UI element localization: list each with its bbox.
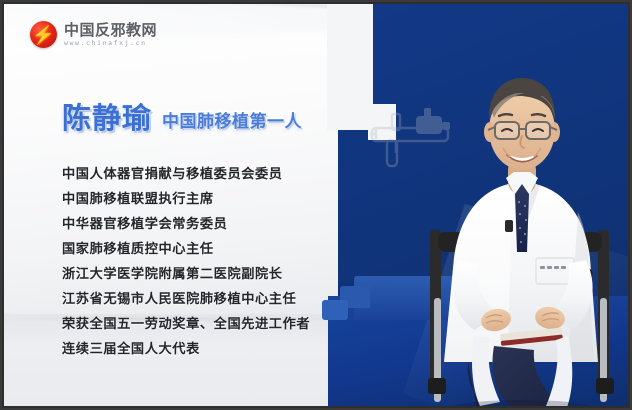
site-name: 中国反邪教网 [64,23,157,38]
subject-photo [408,62,628,406]
credential-line: 江苏省无锡市人民医院肺移植中心主任 [62,287,310,312]
video-stage: ⚡ 中国反邪教网 www.chinafxj.cn 陈静瑜 中国肺移植第一人 中国… [4,4,628,406]
person-tagline: 中国肺移植第一人 [162,114,302,133]
flame-bolt-icon: ⚡ [30,21,57,48]
video-frame: ⚡ 中国反邪教网 www.chinafxj.cn 陈静瑜 中国肺移植第一人 中国… [0,0,632,410]
credential-line: 荣获全国五一劳动奖章、全国先进工作者 [62,312,310,337]
credential-line: 连续三届全国人大代表 [62,337,310,362]
credential-line: 国家肺移植质控中心主任 [62,237,310,262]
site-watermark-text: 中国反邪教网 www.chinafxj.cn [64,23,157,47]
bolt-glyph: ⚡ [32,26,54,44]
credential-line: 中华器官移植学会常务委员 [62,212,310,237]
site-watermark: ⚡ 中国反邪教网 www.chinafxj.cn [30,21,157,48]
credential-list: 中国人体器官捐献与移植委员会委员 中国肺移植联盟执行主席 中华器官移植学会常务委… [62,162,310,362]
site-url: www.chinafxj.cn [64,40,157,47]
title-block: 陈静瑜 中国肺移植第一人 [62,104,302,133]
blue-set-shelf-block [322,300,348,320]
credential-line: 浙江大学医学院附属第二医院副院长 [62,262,310,287]
credential-line: 中国肺移植联盟执行主席 [62,187,310,212]
person-name: 陈静瑜 [62,104,152,133]
credential-line: 中国人体器官捐献与移植委员会委员 [62,162,310,187]
